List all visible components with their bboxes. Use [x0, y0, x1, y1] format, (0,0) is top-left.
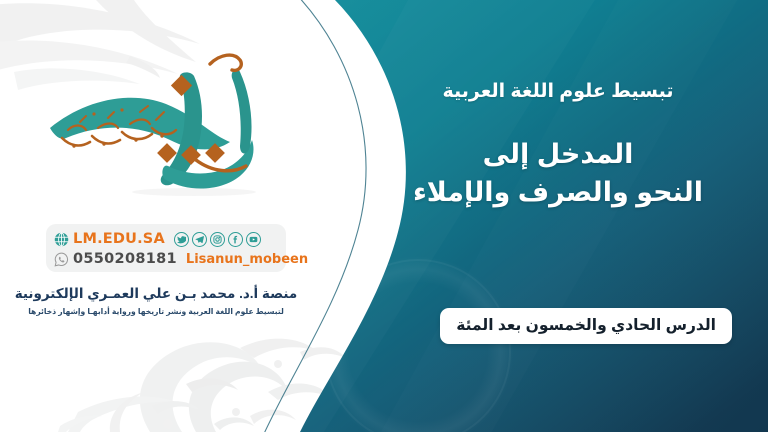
facebook-icon[interactable]: [228, 232, 243, 247]
main-title-line-1: المدخل إلى: [348, 135, 768, 173]
telegram-icon[interactable]: [192, 232, 207, 247]
left-white-column: LM.EDU.SA: [0, 0, 312, 432]
contact-row-phone: 0550208181 Lisanun_mobeen: [54, 249, 278, 269]
brand-logo: [44, 42, 276, 204]
contact-pill: LM.EDU.SA: [46, 224, 286, 272]
website-label[interactable]: LM.EDU.SA: [73, 232, 165, 247]
globe-icon: [54, 232, 69, 247]
instagram-icon[interactable]: [210, 232, 225, 247]
lesson-badge: الدرس الحادي والخمسون بعد المئة: [440, 308, 732, 344]
youtube-icon[interactable]: [246, 232, 261, 247]
platform-tagline: لتبسيط علوم اللغة العربية ونشر تاريخها و…: [0, 307, 312, 316]
logo-teal-tail: [232, 69, 252, 153]
twitter-icon[interactable]: [174, 232, 189, 247]
social-icon-set: [174, 232, 261, 247]
social-handle-label[interactable]: Lisanun_mobeen: [186, 253, 308, 266]
main-title-line-2: النحو والصرف والإملاء: [348, 173, 768, 211]
lesson-label: الدرس الحادي والخمسون بعد المئة: [456, 317, 716, 334]
series-kicker: تبسيط علوم اللغة العربية: [348, 80, 768, 103]
logo-shadow: [132, 188, 256, 196]
main-title: المدخل إلى النحو والصرف والإملاء: [348, 135, 768, 212]
platform-name: منصة أ.د. محمد بـن علي العمـري الإلكترون…: [0, 286, 312, 302]
whatsapp-icon: [54, 252, 69, 267]
phone-label[interactable]: 0550208181: [73, 252, 177, 267]
slide-canvas: LM.EDU.SA: [0, 0, 768, 432]
contact-row-website: LM.EDU.SA: [54, 229, 278, 249]
logo-teal-sweep: [50, 98, 230, 150]
right-teal-column: تبسيط علوم اللغة العربية المدخل إلى النح…: [348, 0, 768, 432]
logo-artwork: [44, 42, 276, 204]
